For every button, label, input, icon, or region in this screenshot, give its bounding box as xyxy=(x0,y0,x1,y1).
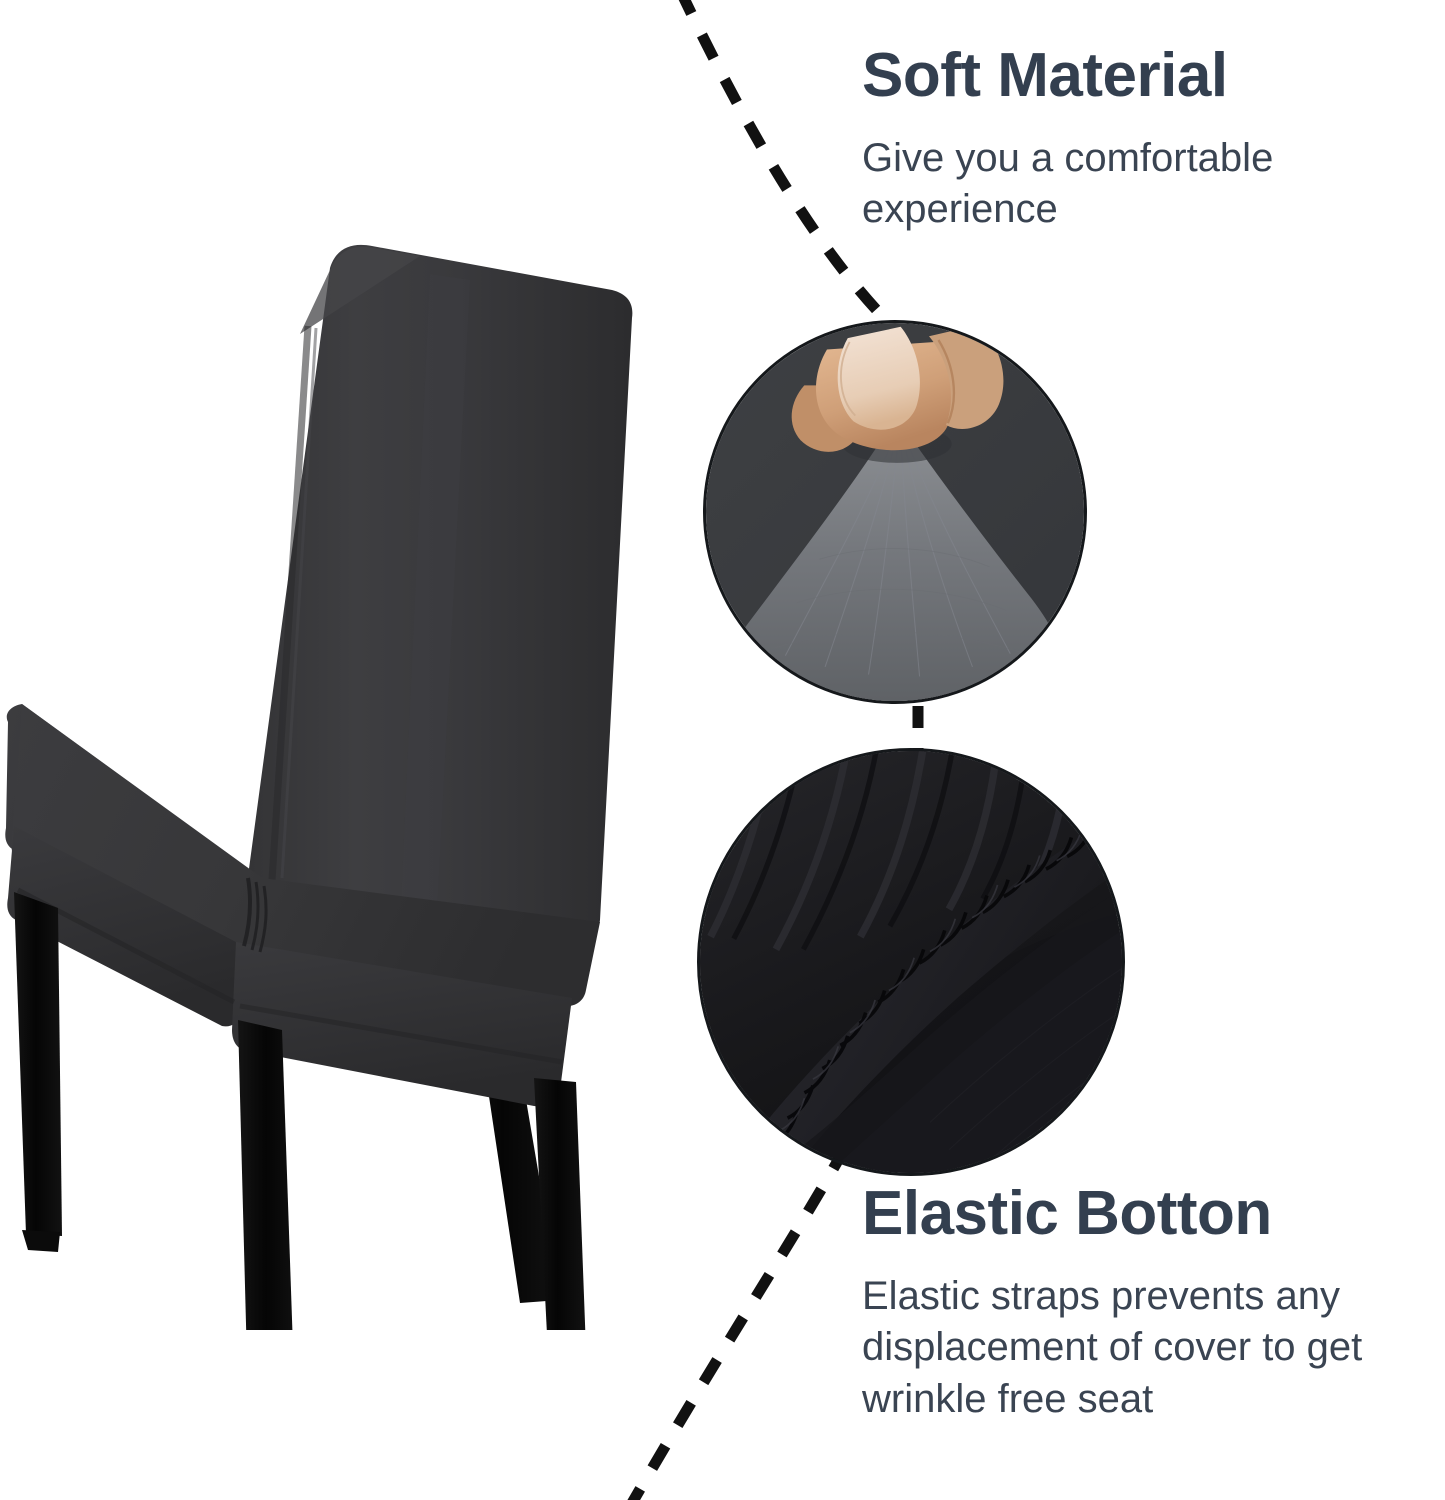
covered-dining-chair xyxy=(0,230,640,1330)
feature-description-elastic-botton: Elastic straps prevents any displacement… xyxy=(862,1271,1442,1425)
dashed-arc-lower xyxy=(628,1146,846,1500)
elastic-hem-icon xyxy=(697,748,1125,1176)
feature-description-soft-material: Give you a comfortable experience xyxy=(862,133,1437,235)
pinched-fabric-icon xyxy=(703,320,1087,704)
feature-title-elastic-botton: Elastic Botton xyxy=(862,1182,1442,1245)
feature-title-soft-material: Soft Material xyxy=(862,44,1437,107)
dashed-arc-upper xyxy=(680,0,884,318)
chair-back-cover xyxy=(248,245,633,942)
chair-leg-front-right xyxy=(238,1020,300,1330)
chair-leg-front-left xyxy=(14,892,62,1252)
feature-block-soft-material: Soft Material Give you a comfortable exp… xyxy=(862,44,1437,236)
feature-block-elastic-botton: Elastic Botton Elastic straps prevents a… xyxy=(862,1182,1442,1425)
infographic-page: Soft Material Give you a comfortable exp… xyxy=(0,0,1445,1500)
